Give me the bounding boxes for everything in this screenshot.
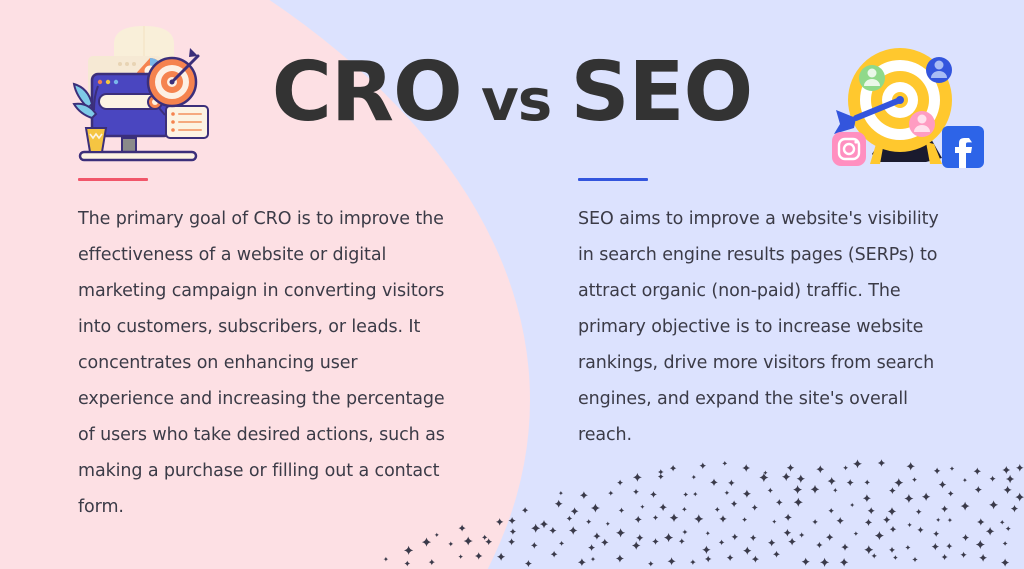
seo-column: SEO aims to improve a website's visibili…	[578, 178, 950, 453]
instagram-icon	[832, 132, 866, 166]
seo-paragraph: SEO aims to improve a website's visibili…	[578, 201, 950, 453]
title-seo: SEO	[570, 45, 752, 140]
seo-accent-rule	[578, 178, 648, 181]
cro-accent-rule	[78, 178, 148, 181]
cro-paragraph: The primary goal of CRO is to improve th…	[78, 201, 450, 525]
cro-column: The primary goal of CRO is to improve th…	[78, 178, 450, 525]
title-cro: CRO	[272, 45, 462, 140]
title-vs: vs	[462, 66, 571, 134]
page-title: CRO vs SEO	[0, 52, 1024, 134]
slide-canvas: CRO vs SEO The primary goal of CRO is to…	[0, 0, 1024, 569]
